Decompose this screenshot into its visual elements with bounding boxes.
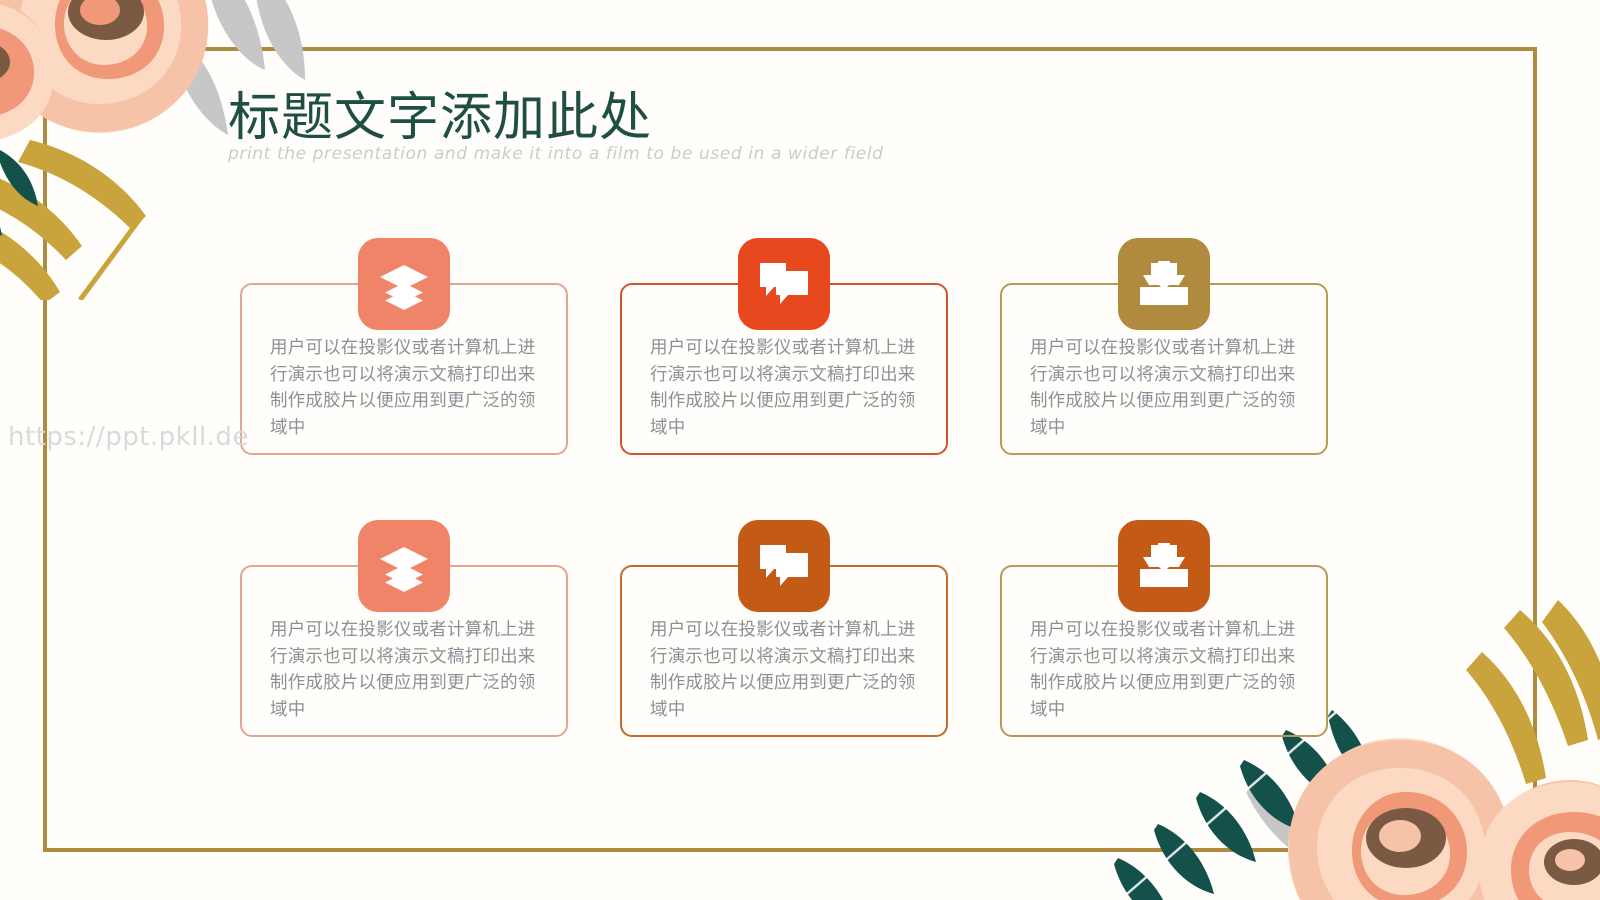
layers-icon[interactable] — [358, 238, 450, 330]
feature-card-text: 用户可以在投影仪或者计算机上进行演示也可以将演示文稿打印出来制作成胶片以便应用到… — [1030, 335, 1302, 441]
feature-card-text: 用户可以在投影仪或者计算机上进行演示也可以将演示文稿打印出来制作成胶片以便应用到… — [270, 617, 542, 723]
feature-card-text: 用户可以在投影仪或者计算机上进行演示也可以将演示文稿打印出来制作成胶片以便应用到… — [270, 335, 542, 441]
feature-card-text: 用户可以在投影仪或者计算机上进行演示也可以将演示文稿打印出来制作成胶片以便应用到… — [650, 617, 922, 723]
page-subtitle: print the presentation and make it into … — [228, 142, 884, 166]
watermark-url: https://ppt.pkll.de — [8, 421, 249, 453]
page-title: 标题文字添加此处 — [228, 88, 884, 148]
inbox-download-icon[interactable] — [1118, 520, 1210, 612]
layers-icon[interactable] — [358, 520, 450, 612]
feature-card-text: 用户可以在投影仪或者计算机上进行演示也可以将演示文稿打印出来制作成胶片以便应用到… — [650, 335, 922, 441]
chat-bubbles-icon[interactable] — [738, 520, 830, 612]
page-title-block: 标题文字添加此处 print the presentation and make… — [228, 88, 884, 166]
inbox-download-icon[interactable] — [1118, 238, 1210, 330]
slide-canvas: 标题文字添加此处 print the presentation and make… — [0, 0, 1600, 900]
chat-bubbles-icon[interactable] — [738, 238, 830, 330]
feature-card-text: 用户可以在投影仪或者计算机上进行演示也可以将演示文稿打印出来制作成胶片以便应用到… — [1030, 617, 1302, 723]
